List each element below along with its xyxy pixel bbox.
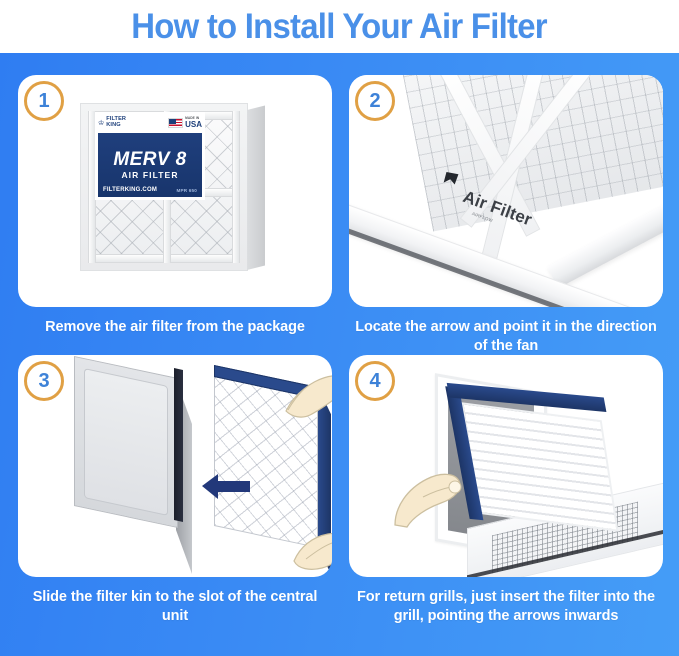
step-card-1[interactable]: ♔ FILTER KING <box>18 75 332 365</box>
merv-rating-panel: MERV 8 AIR FILTER FILTERKING.COM MPR 650 <box>98 133 202 197</box>
step-number-4: 4 <box>369 371 380 391</box>
product-label: ♔ FILTER KING <box>95 112 205 200</box>
step-caption-1: Remove the air filter from the package <box>18 318 332 337</box>
filter-direction-arrow-icon: ◀◀ <box>494 369 508 378</box>
label-footer-row: FILTERKING.COM MPR 650 <box>103 187 197 193</box>
merv8-filter-package-photo: ♔ FILTER KING <box>18 75 332 307</box>
hand-top <box>276 373 332 419</box>
grill-louver-face <box>461 402 618 532</box>
infographic-root: How to Install Your Air Filter <box>0 0 679 656</box>
step-1-image-card: ♔ FILTER KING <box>18 75 332 307</box>
hand-inserting-filter <box>393 467 479 529</box>
step-number-badge-4: 4 <box>355 361 395 401</box>
hinged-grill-door: ◀◀ <box>461 402 618 532</box>
brand-name: FILTER KING <box>106 117 126 128</box>
step-caption-3: Slide the filter kin to the slot of the … <box>18 588 332 626</box>
step-caption-4: For return grills, just insert the filte… <box>349 588 663 626</box>
website-url: FILTERKING.COM <box>103 187 157 193</box>
filter-rail-right <box>232 111 240 263</box>
insert-direction-arrow-icon <box>200 471 252 505</box>
steps-grid: ♔ FILTER KING <box>0 53 679 656</box>
step-caption-2: Locate the arrow and point it in the dir… <box>349 318 663 356</box>
made-in-usa-badge: MADE IN USA <box>168 117 202 128</box>
step-4-image-card: ◀◀ 4 <box>349 355 663 577</box>
return-grill-filter-insert-illustration: ◀◀ <box>349 355 663 577</box>
step-number-badge-2: 2 <box>355 81 395 121</box>
title-band: How to Install Your Air Filter <box>0 0 679 53</box>
slide-filter-into-central-unit-illustration: ◀◀ <box>18 355 332 577</box>
mpr-rating: MPR 650 <box>176 188 197 193</box>
central-unit-slot <box>174 368 183 522</box>
country-label: USA <box>185 121 202 129</box>
step-2-image-card: Air Filter AIRFLOW 2 <box>349 75 663 307</box>
central-unit-face <box>84 368 168 516</box>
step-number-badge-1: 1 <box>24 81 64 121</box>
filter-body: ♔ FILTER KING <box>80 103 248 271</box>
step-card-4[interactable]: ◀◀ 4 For return grills, just insert t <box>349 355 663 655</box>
central-unit-body <box>74 356 178 528</box>
filter-king-logo: ♔ FILTER KING <box>98 117 126 128</box>
label-header-row: ♔ FILTER KING <box>98 115 202 131</box>
step-card-3[interactable]: ◀◀ <box>18 355 332 655</box>
crown-icon: ♔ <box>98 120 104 127</box>
page-title: How to Install Your Air Filter <box>132 7 548 47</box>
step-card-2[interactable]: Air Filter AIRFLOW 2 Locate the arrow an… <box>349 75 663 365</box>
filter-direction-arrow-icon: ◀◀ <box>253 365 264 374</box>
step-3-image-card: ◀◀ <box>18 355 332 577</box>
filter-corner-airflow-arrow-photo: Air Filter AIRFLOW <box>349 75 663 307</box>
step-number-badge-3: 3 <box>24 361 64 401</box>
product-type-label: AIR FILTER <box>121 171 178 180</box>
brand-line-2: KING <box>106 122 120 128</box>
made-in-usa-text: MADE IN USA <box>185 117 202 128</box>
usa-flag-icon <box>168 118 183 128</box>
step-number-2: 2 <box>369 91 380 111</box>
steps-background: ♔ FILTER KING <box>0 53 679 656</box>
hand-bottom <box>290 531 332 571</box>
merv-rating: MERV 8 <box>113 150 186 169</box>
step-number-1: 1 <box>38 91 49 111</box>
step-number-3: 3 <box>38 371 49 391</box>
